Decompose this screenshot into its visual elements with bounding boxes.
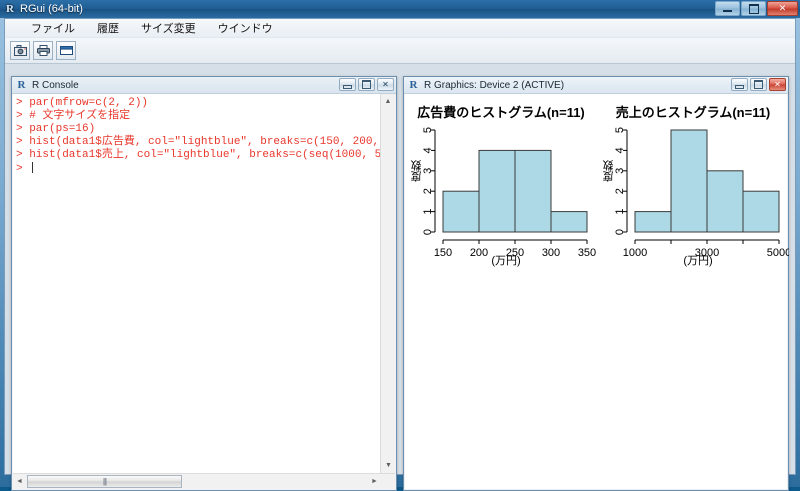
console-line: > par(mfrow=c(2, 2)) (16, 97, 380, 110)
console-prompt-line: > (16, 162, 380, 176)
menu-item-history[interactable]: 履歴 (97, 20, 119, 36)
y-axis-tick-label: 5 (614, 127, 626, 133)
histogram-bar (707, 171, 743, 232)
close-button[interactable]: ✕ (767, 1, 798, 16)
histogram-bar (635, 212, 671, 232)
r-logo-icon: R (407, 79, 420, 92)
chart-plot-area-sales: 012345100030005000 (597, 94, 789, 294)
menu-item-resize[interactable]: サイズ変更 (141, 20, 196, 36)
graphics-close-button[interactable]: ✕ (769, 78, 786, 91)
graphics-title-bar: R R Graphics: Device 2 (ACTIVE) ✕ (404, 77, 788, 94)
console-title-bar: R R Console ✕ (12, 77, 396, 94)
menu-item-file[interactable]: ファイル (31, 20, 75, 36)
y-axis-tick-label: 4 (422, 147, 434, 153)
graphics-maximize-button[interactable] (750, 78, 767, 91)
y-axis-tick-label: 3 (422, 168, 434, 174)
print-button[interactable] (33, 41, 53, 60)
console-vertical-scrollbar[interactable]: ▲ ▼ (380, 94, 395, 473)
y-axis-tick-label: 2 (422, 188, 434, 194)
minimize-button[interactable] (715, 1, 740, 16)
console-line: > par(ps=16) (16, 123, 380, 136)
r-console-window[interactable]: R R Console ✕ > par(mfrow=c(2, 2)) > # 文… (11, 76, 397, 491)
y-axis-tick-label: 2 (614, 188, 626, 194)
graphics-canvas: 広告費のヒストグラム(n=11) 度数 (万円) 012345150200250… (405, 94, 787, 489)
tool-bar (5, 38, 795, 64)
console-body: > par(mfrow=c(2, 2)) > # 文字サイズを指定 > par(… (13, 94, 395, 489)
y-axis-tick-label: 0 (422, 229, 434, 235)
console-line: > # 文字サイズを指定 (16, 110, 380, 123)
graphics-window-controls: ✕ (731, 78, 786, 91)
x-axis-tick-label: 250 (506, 247, 524, 259)
histogram-panels: 広告費のヒストグラム(n=11) 度数 (万円) 012345150200250… (405, 94, 789, 294)
console-close-button[interactable]: ✕ (377, 78, 394, 91)
histogram-bar (443, 191, 479, 232)
scroll-right-icon[interactable]: ► (368, 475, 381, 488)
histogram-bar (743, 191, 779, 232)
menu-bar: ファイル 履歴 サイズ変更 ウインドウ (5, 19, 795, 38)
console-title: R Console (32, 80, 79, 91)
console-output[interactable]: > par(mfrow=c(2, 2)) > # 文字サイズを指定 > par(… (13, 94, 380, 473)
rgui-main-window: R RGui (64-bit) ✕ ファイル 履歴 サイズ変更 ウインドウ (0, 0, 800, 487)
x-axis-tick-label: 200 (470, 247, 488, 259)
histogram-panel-advertising: 広告費のヒストグラム(n=11) 度数 (万円) 012345150200250… (405, 94, 597, 294)
console-minimize-button[interactable] (339, 78, 356, 91)
title-bar: R RGui (64-bit) ✕ (0, 0, 800, 18)
camera-icon (14, 45, 27, 56)
y-axis-tick-label: 5 (422, 127, 434, 133)
console-maximize-button[interactable] (358, 78, 375, 91)
histogram-bar (479, 150, 515, 232)
mdi-workspace: R R Console ✕ > par(mfrow=c(2, 2)) > # 文… (5, 63, 795, 474)
x-axis-tick-label: 350 (578, 247, 596, 259)
window-controls: ✕ (715, 1, 798, 16)
scroll-left-icon[interactable]: ◄ (13, 475, 26, 488)
x-axis-tick-label: 3000 (695, 247, 719, 259)
graphics-title: R Graphics: Device 2 (ACTIVE) (424, 80, 564, 91)
console-line: > hist(data1$広告費, col="lightblue", break… (16, 136, 380, 149)
scroll-grip-icon: ||| (103, 477, 106, 486)
x-axis-tick-label: 300 (542, 247, 560, 259)
menu-item-window[interactable]: ウインドウ (218, 20, 273, 36)
x-axis-tick-label: 5000 (767, 247, 789, 259)
histogram-panel-sales: 売上のヒストグラム(n=11) 度数 (万円) 0123451000300050… (597, 94, 789, 294)
console-prompt: > (16, 163, 29, 175)
r-graphics-window[interactable]: R R Graphics: Device 2 (ACTIVE) ✕ 広告費のヒス… (403, 76, 789, 491)
r-logo-icon: R (4, 3, 16, 15)
y-axis-tick-label: 3 (614, 168, 626, 174)
window-icon (60, 45, 73, 56)
chart-plot-area-advertising: 012345150200250300350 (405, 94, 597, 294)
histogram-bar (671, 130, 707, 232)
y-axis-tick-label: 1 (422, 209, 434, 215)
console-line: > hist(data1$売上, col="lightblue", breaks… (16, 149, 380, 162)
y-axis-tick-label: 0 (614, 229, 626, 235)
histogram-bar (551, 212, 587, 232)
r-logo-icon: R (15, 79, 28, 92)
y-axis-tick-label: 4 (614, 147, 626, 153)
text-caret (32, 162, 33, 173)
window-button[interactable] (56, 41, 76, 60)
app-client-area: ファイル 履歴 サイズ変更 ウインドウ (4, 18, 796, 475)
console-window-controls: ✕ (339, 78, 394, 91)
window-title: RGui (64-bit) (20, 3, 83, 15)
copy-image-button[interactable] (10, 41, 30, 60)
x-axis-tick-label: 150 (434, 247, 452, 259)
horizontal-scroll-thumb[interactable]: ||| (27, 475, 182, 488)
scroll-down-icon[interactable]: ▼ (382, 459, 395, 472)
y-axis-tick-label: 1 (614, 209, 626, 215)
histogram-bar (515, 150, 551, 232)
scroll-up-icon[interactable]: ▲ (382, 95, 395, 108)
maximize-button[interactable] (741, 1, 766, 16)
graphics-minimize-button[interactable] (731, 78, 748, 91)
x-axis-tick-label: 1000 (623, 247, 647, 259)
printer-icon (37, 45, 50, 56)
